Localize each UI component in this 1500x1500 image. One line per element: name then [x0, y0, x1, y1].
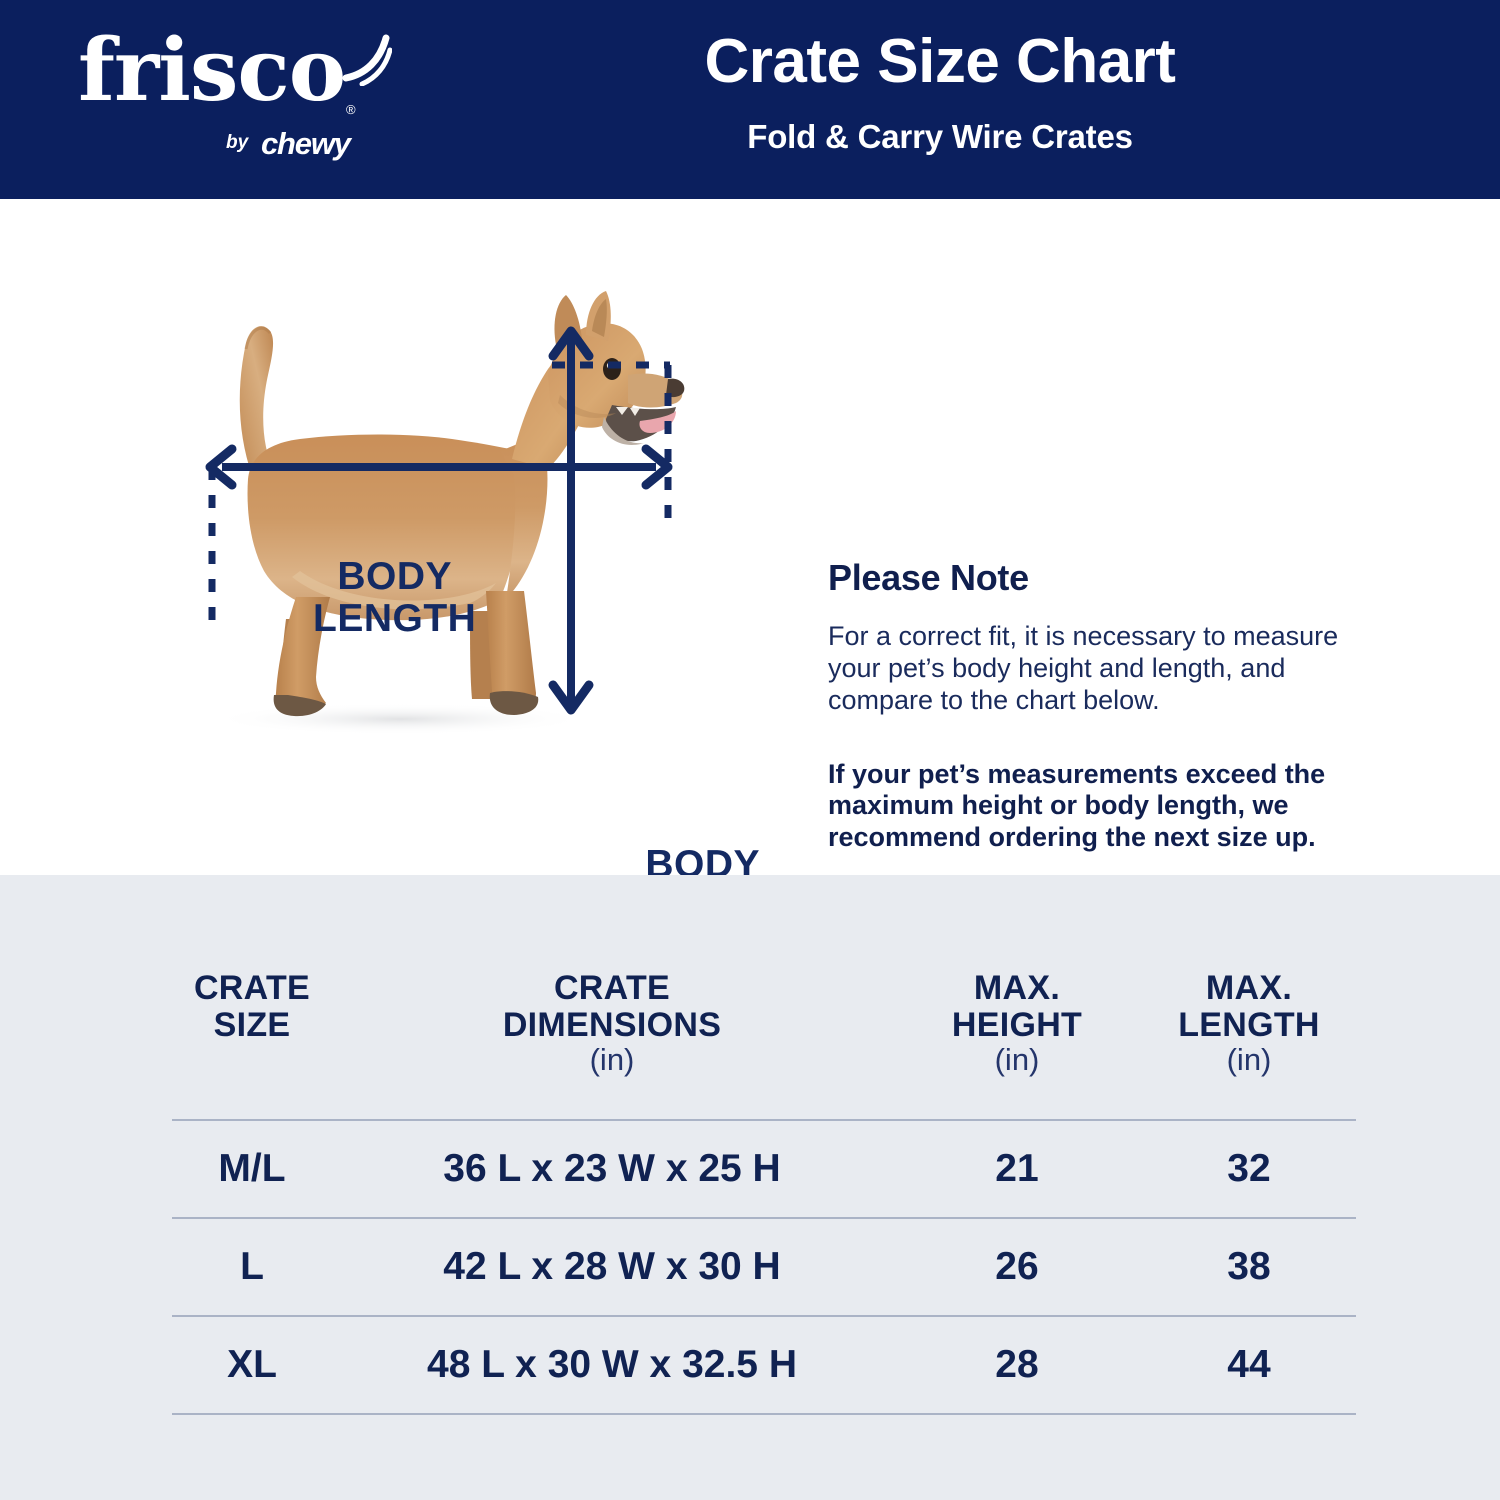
header-line2: LENGTH [1178, 1006, 1320, 1044]
column-header-crate-dimensions: CRATE DIMENSIONS (in) [332, 970, 892, 1120]
body-length-label-line2: LENGTH [313, 598, 476, 640]
info-section: BODY LENGTH BODY HEIGHT Please Note For … [0, 199, 1500, 875]
page-subtitle: Fold & Carry Wire Crates [380, 118, 1500, 156]
cell-crate-size: M/L [172, 1120, 332, 1218]
column-header-crate-size: CRATE SIZE [172, 970, 332, 1120]
cell-crate-size: L [172, 1218, 332, 1316]
cell-max-height: 21 [892, 1120, 1142, 1218]
size-table-section: CRATE SIZE CRATE DIMENSIONS (in) MAX. HE… [0, 875, 1500, 1500]
header-unit: (in) [1142, 1043, 1356, 1076]
please-note-block: Please Note For a correct fit, it is nec… [828, 557, 1358, 854]
page-title: Crate Size Chart [380, 28, 1500, 96]
header-line2: DIMENSIONS [503, 1006, 721, 1044]
chewy-wordmark: chewy [261, 126, 350, 162]
page-header: frisco ® by chewy Crate Size Chart Fold … [0, 0, 1500, 199]
column-header-max-height: MAX. HEIGHT (in) [892, 970, 1142, 1120]
table-row: XL 48 L x 30 W x 32.5 H 28 44 [172, 1316, 1356, 1414]
body-length-label-line1: BODY [313, 556, 476, 598]
cell-max-height: 26 [892, 1218, 1142, 1316]
frisco-logo: frisco ® by chewy [78, 28, 378, 173]
cell-max-length: 44 [1142, 1316, 1356, 1414]
body-length-label: BODY LENGTH [313, 556, 476, 639]
cell-max-height: 28 [892, 1316, 1142, 1414]
header-line1: MAX. [974, 969, 1060, 1007]
cell-max-length: 32 [1142, 1120, 1356, 1218]
header-unit: (in) [332, 1043, 892, 1076]
table-row: L 42 L x 28 W x 30 H 26 38 [172, 1218, 1356, 1316]
header-line1: CRATE [194, 969, 310, 1007]
cell-dimensions: 36 L x 23 W x 25 H [332, 1120, 892, 1218]
please-note-title: Please Note [828, 557, 1358, 599]
header-line2: HEIGHT [952, 1006, 1082, 1044]
cell-dimensions: 42 L x 28 W x 30 H [332, 1218, 892, 1316]
cell-crate-size: XL [172, 1316, 332, 1414]
table-row: M/L 36 L x 23 W x 25 H 21 32 [172, 1120, 1356, 1218]
crate-size-table: CRATE SIZE CRATE DIMENSIONS (in) MAX. HE… [172, 970, 1356, 1415]
dog-illustration [240, 291, 685, 716]
please-note-emphasis: If your pet’s measurements exceed the ma… [828, 759, 1358, 855]
header-line1: MAX. [1206, 969, 1292, 1007]
cell-max-length: 38 [1142, 1218, 1356, 1316]
header-line2: SIZE [214, 1006, 291, 1044]
column-header-max-length: MAX. LENGTH (in) [1142, 970, 1356, 1120]
table-header-row: CRATE SIZE CRATE DIMENSIONS (in) MAX. HE… [172, 970, 1356, 1120]
please-note-paragraph: For a correct fit, it is necessary to me… [828, 621, 1358, 717]
brand-wordmark: frisco [78, 28, 345, 114]
cell-dimensions: 48 L x 30 W x 32.5 H [332, 1316, 892, 1414]
registered-mark: ® [346, 102, 356, 117]
header-unit: (in) [892, 1043, 1142, 1076]
logo-by-text: by [226, 132, 248, 154]
header-line1: CRATE [554, 969, 670, 1007]
